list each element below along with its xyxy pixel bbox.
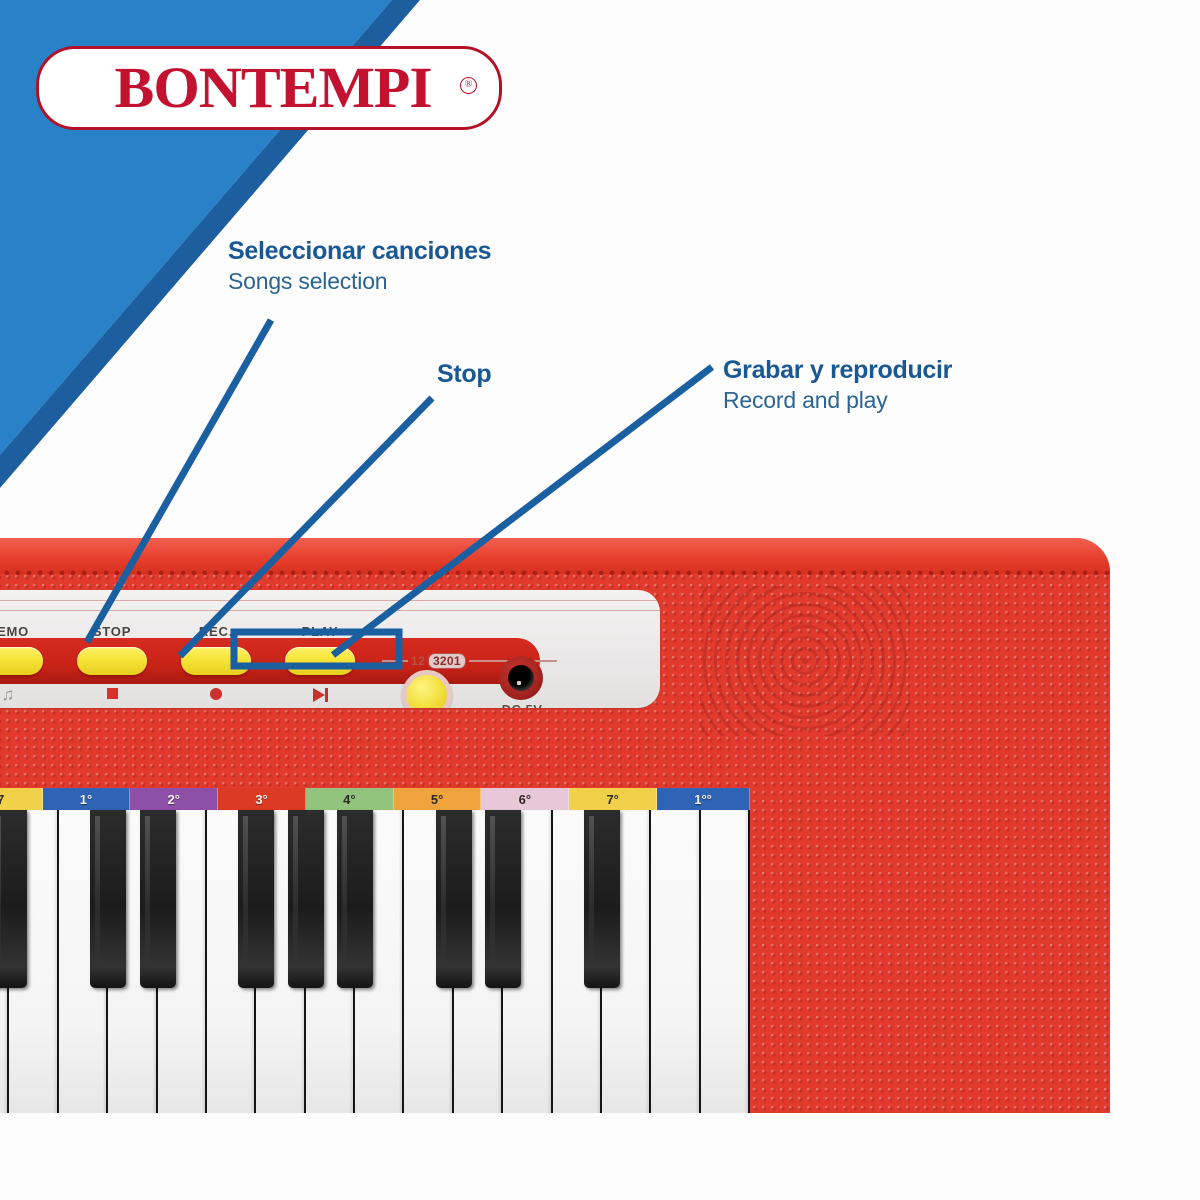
product-feature-image: BONTEMPI ® Seleccionar canciones Songs s… [0,0,1200,1200]
callout-leader-lines [0,0,1200,1200]
rec-play-highlight-bracket [234,632,399,666]
leader-line-stop [180,398,432,656]
leader-line-record [333,367,712,655]
